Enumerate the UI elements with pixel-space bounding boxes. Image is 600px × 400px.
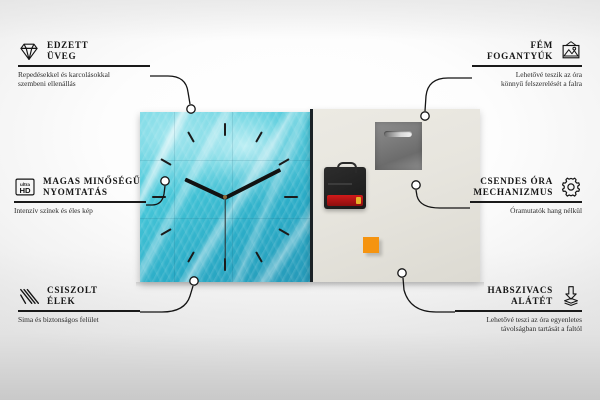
tick-5 <box>255 251 263 262</box>
tick-8 <box>160 228 171 236</box>
connector-tempered-glass <box>150 76 190 104</box>
callout-rule <box>14 201 146 203</box>
foam-pad <box>363 237 379 253</box>
clock-face-front <box>140 112 310 282</box>
tick-10 <box>160 158 171 166</box>
callout-header: CSENDES ÓRA MECHANIZMUS <box>470 176 582 198</box>
callout-hd-print: ultra HD MAGAS MINŐSÉGŰ NYOMTATÁS Intenz… <box>14 176 146 215</box>
callout-polished-edges: CSISZOLT ÉLEK Sima és biztonságos felüle… <box>18 285 140 324</box>
mechanism-loop-icon <box>337 162 357 173</box>
callout-rule <box>455 310 582 312</box>
callout-header: FÉM FOGANTYÚK <box>472 40 582 62</box>
clock-dial <box>140 112 310 282</box>
callout-header: ultra HD MAGAS MINŐSÉGŰ NYOMTATÁS <box>14 176 146 198</box>
minute-hand <box>224 168 281 199</box>
callout-rule <box>472 65 582 67</box>
tick-3 <box>284 196 298 198</box>
mechanism-detail <box>328 183 352 185</box>
connector-metal-handles <box>425 78 472 111</box>
second-hand <box>224 197 225 261</box>
tick-12 <box>224 123 226 136</box>
tick-2 <box>278 158 289 166</box>
callout-quiet-movement: CSENDES ÓRA MECHANIZMUS Óramutatók hang … <box>470 176 582 215</box>
gear-icon <box>560 176 582 198</box>
infographic-canvas: EDZETT ÜVEG Repedésekkel és karcolásokka… <box>0 0 600 400</box>
callout-tempered-glass: EDZETT ÜVEG Repedésekkel és karcolásokka… <box>18 40 150 89</box>
foam-pad-arrow-icon <box>560 285 582 307</box>
battery <box>327 195 363 206</box>
metal-hanger <box>375 122 422 170</box>
callout-rule <box>18 65 150 67</box>
picture-hanger-icon <box>560 40 582 62</box>
hour-hand <box>184 177 226 199</box>
tick-9 <box>152 196 166 198</box>
diamond-icon <box>18 40 40 62</box>
tick-11 <box>187 131 195 142</box>
tick-7 <box>187 251 195 262</box>
tick-1 <box>255 131 263 142</box>
glass-edge <box>310 109 313 282</box>
callout-header: EDZETT ÜVEG <box>18 40 150 62</box>
callout-header: CSISZOLT ÉLEK <box>18 285 140 307</box>
tick-4 <box>278 228 289 236</box>
product-image <box>140 112 480 286</box>
callout-header: HABSZIVACS ALÁTÉT <box>455 285 582 307</box>
callout-title: HABSZIVACS ALÁTÉT <box>487 285 553 307</box>
callout-title: FÉM FOGANTYÚK <box>487 40 553 62</box>
callout-metal-handles: FÉM FOGANTYÚK Lehetővé teszik az óra kön… <box>472 40 582 89</box>
callout-rule <box>18 310 140 312</box>
product-shadow <box>136 282 484 287</box>
callout-title: EDZETT ÜVEG <box>47 40 88 62</box>
callout-title: CSENDES ÓRA MECHANIZMUS <box>473 176 553 198</box>
svg-text:HD: HD <box>19 186 31 195</box>
callout-title: MAGAS MINŐSÉGŰ NYOMTATÁS <box>43 176 140 198</box>
polished-edges-icon <box>18 285 40 307</box>
callout-title: CSISZOLT ÉLEK <box>47 285 98 307</box>
clock-back-panel <box>310 109 480 282</box>
callout-rule <box>470 201 582 203</box>
callout-foam-pad: HABSZIVACS ALÁTÉT Lehetővé teszi az óra … <box>455 285 582 334</box>
connector-polished-edges <box>140 286 193 312</box>
hand-cap <box>223 195 227 199</box>
clock-mechanism <box>324 167 366 209</box>
hanger-slot <box>384 131 412 137</box>
ultra-hd-icon: ultra HD <box>14 176 36 198</box>
